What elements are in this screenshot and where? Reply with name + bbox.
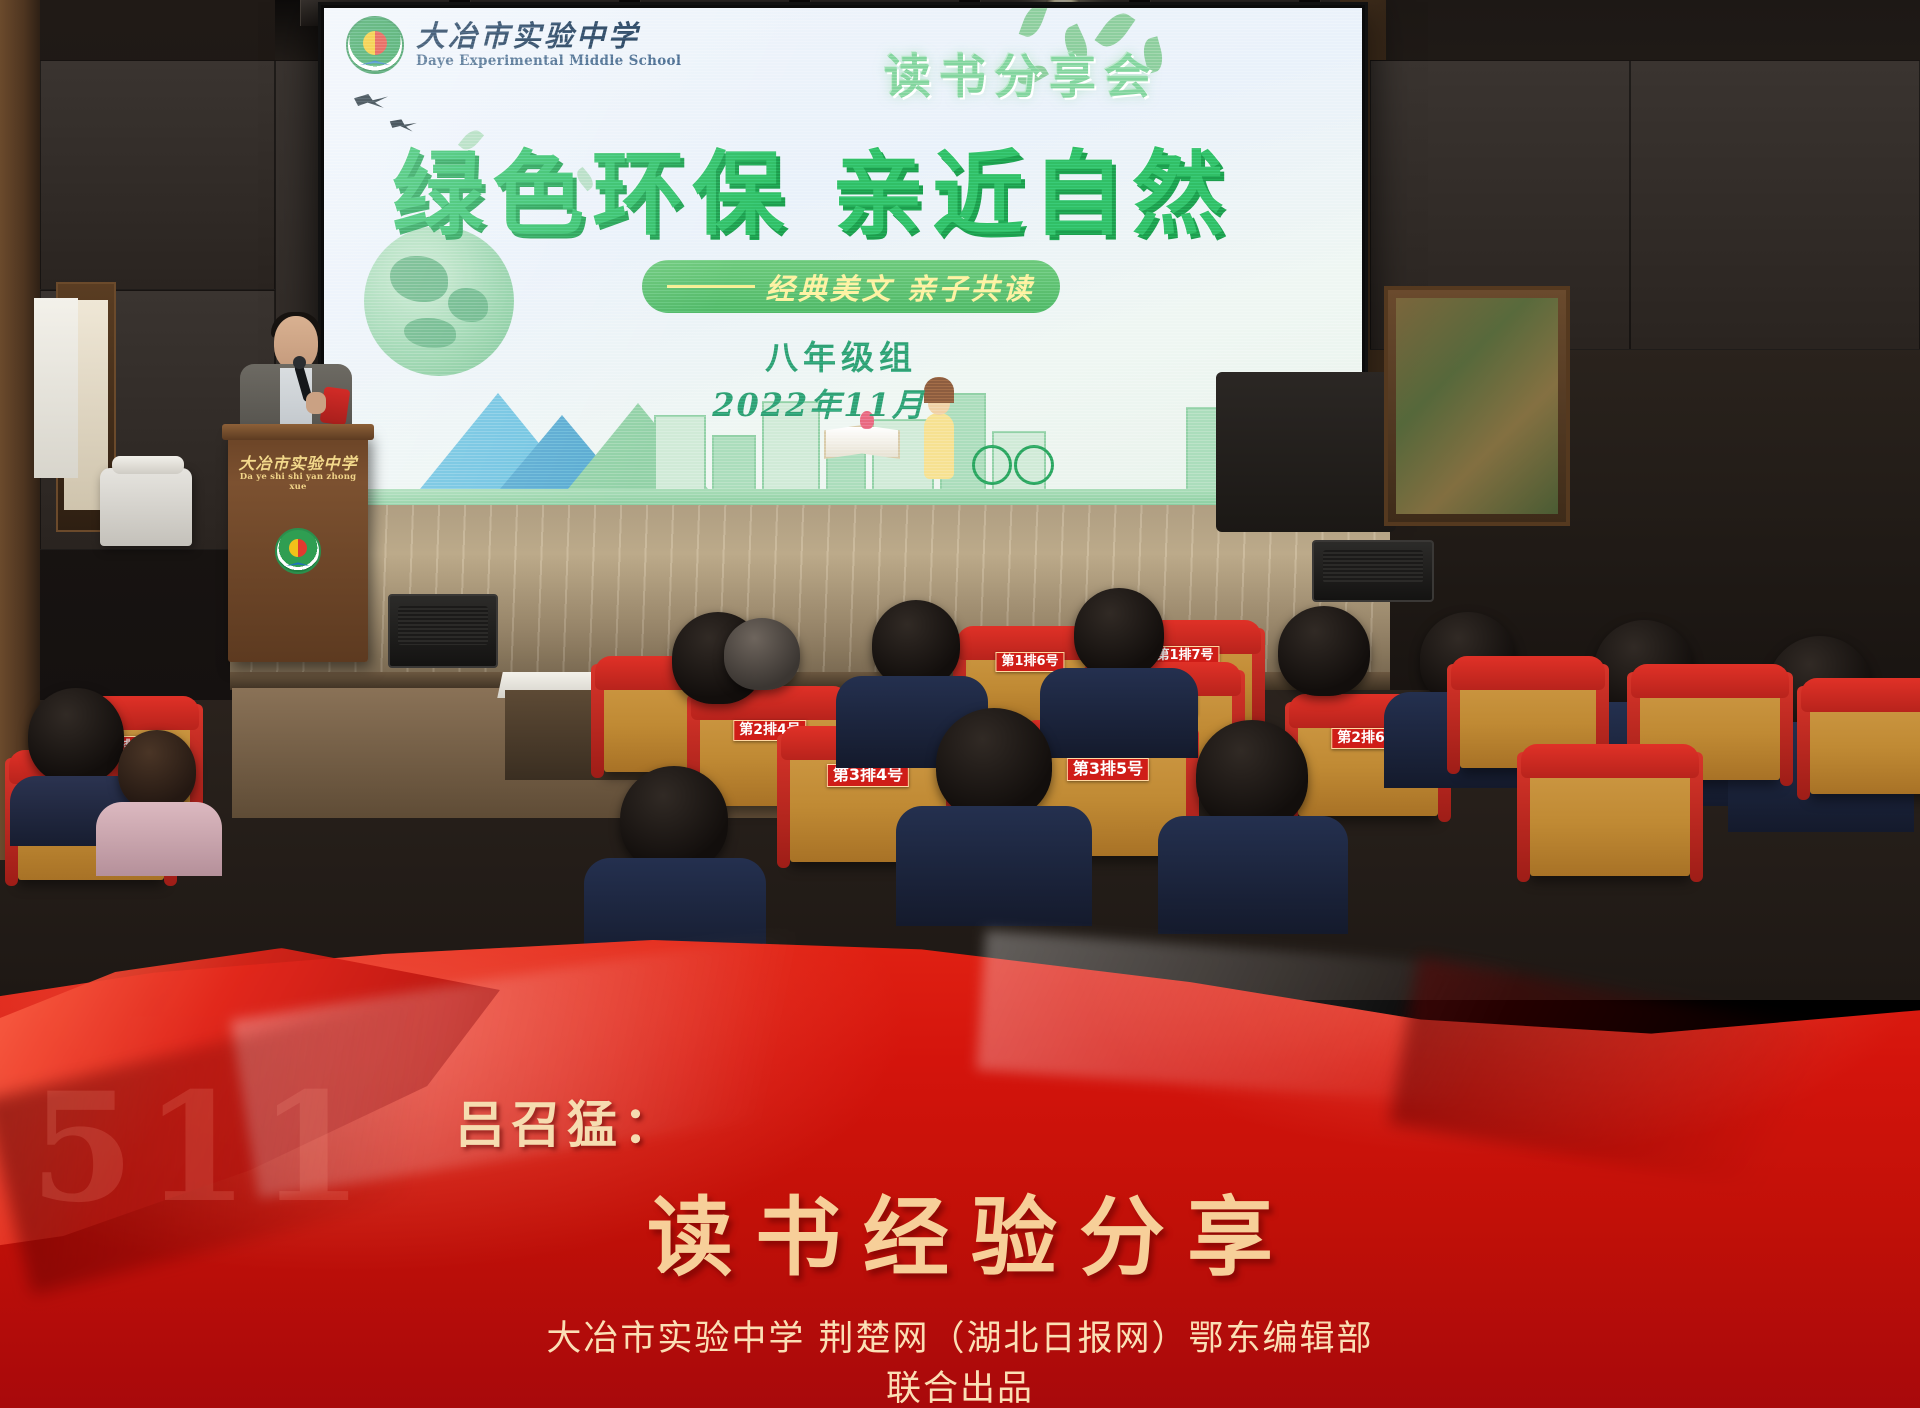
side-table — [112, 456, 184, 474]
podium-school-name: 大冶市实验中学 — [234, 450, 362, 474]
screenshot-root: 大冶市实验中学 Daye Experimental Middle School … — [0, 0, 1920, 1408]
event-title: 读书分享会 — [884, 38, 1159, 107]
school-logo-row: 大冶市实验中学 Daye Experimental Middle School — [346, 16, 681, 74]
audience-head — [724, 618, 800, 690]
audience-head — [1196, 720, 1308, 830]
led-screen-content: 大冶市实验中学 Daye Experimental Middle School … — [324, 8, 1362, 511]
wall-panel — [1630, 60, 1920, 350]
subtitle-text: 经典美文 亲子共读 — [765, 266, 1034, 308]
audience-head — [1278, 606, 1370, 696]
school-badge-icon — [346, 16, 404, 74]
audience-head — [1074, 588, 1164, 678]
seat — [1810, 690, 1920, 794]
podium-emblem-icon — [275, 528, 321, 574]
credit-line-1: 大冶市实验中学 荆楚网（湖北日报网）鄂东编辑部 — [0, 1310, 1920, 1361]
side-sofa — [100, 468, 192, 546]
seat-label: 第1排6号 — [995, 652, 1064, 672]
school-name-cn: 大冶市实验中学 — [416, 22, 681, 51]
audience-shoulders — [896, 806, 1092, 926]
audience-head — [620, 766, 728, 872]
led-screen: 大冶市实验中学 Daye Experimental Middle School … — [318, 2, 1368, 517]
side-chairs — [1216, 372, 1396, 532]
seat — [1530, 756, 1690, 876]
leaf-decor — [1019, 8, 1048, 40]
caption-title: 读书经验分享 — [0, 1167, 1920, 1292]
whiteboard — [34, 298, 78, 478]
grade-group-label: 八年级组 — [676, 331, 1006, 379]
audience-head — [872, 600, 960, 688]
subtitle-pill: 经典美文 亲子共读 — [642, 260, 1060, 313]
audience-shoulders — [1158, 816, 1348, 934]
speaker-name-label: 吕召猛： — [455, 1085, 679, 1157]
podium-school-pinyin: Da ye shi shi yan zhong xue — [234, 472, 362, 492]
audience-head — [936, 708, 1052, 820]
main-slogan: 绿色环保 亲近自然 — [392, 120, 1322, 253]
credit-line-2: 联合出品 — [0, 1360, 1920, 1408]
dash-decor — [667, 285, 755, 288]
bicycle-wheel — [1014, 445, 1054, 485]
audience-head — [28, 688, 124, 784]
swallow-icon — [354, 94, 388, 108]
bicycle-wheel — [972, 445, 1012, 485]
audience-shoulders — [1040, 668, 1198, 758]
seat-label: 第3排5号 — [1067, 758, 1149, 781]
audience-shoulders — [96, 802, 222, 876]
audience-head — [118, 730, 196, 810]
school-name-en: Daye Experimental Middle School — [416, 55, 681, 69]
decorative-folding-screen — [1384, 286, 1570, 526]
wall-panel — [40, 60, 275, 290]
event-date-label: 2022年11月 — [654, 380, 984, 426]
